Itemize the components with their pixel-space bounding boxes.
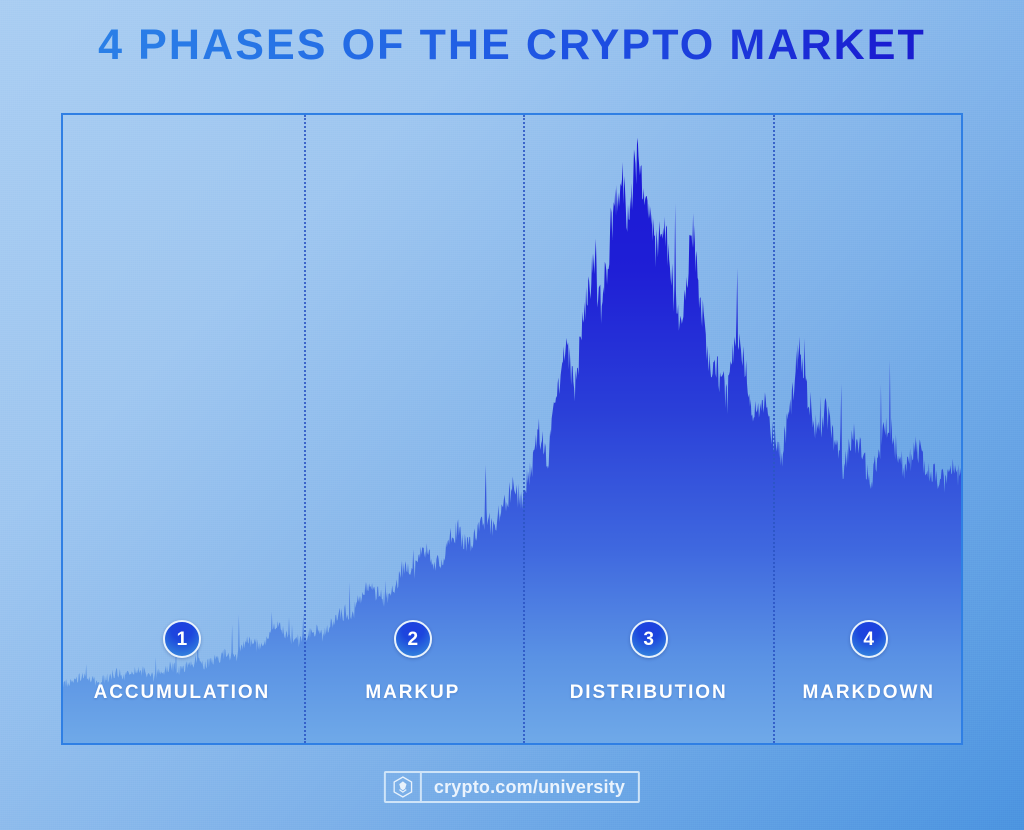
phase-label-accumulation: ACCUMULATION <box>94 682 271 704</box>
phase-distribution: 3 DISTRIBUTION <box>523 620 775 740</box>
phase-number-badge-4: 4 <box>850 620 888 658</box>
phase-label-distribution: DISTRIBUTION <box>570 682 728 704</box>
phase-markup: 2 MARKUP <box>303 620 523 740</box>
crypto-com-logo-icon <box>386 773 422 801</box>
phase-accumulation: 1 ACCUMULATION <box>61 620 303 740</box>
phase-label-markdown: MARKDOWN <box>803 682 935 704</box>
phase-label-markup: MARKUP <box>365 682 460 704</box>
phase-number-badge-2: 2 <box>394 620 432 658</box>
phase-number-badge-3: 3 <box>630 620 668 658</box>
page-title: 4 PHASES OF THE CRYPTO MARKET <box>0 24 1024 67</box>
phase-number-badge-1: 1 <box>163 620 201 658</box>
footer-badge[interactable]: crypto.com/university <box>384 771 640 803</box>
phase-markdown: 4 MARKDOWN <box>774 620 963 740</box>
footer-url[interactable]: crypto.com/university <box>422 773 638 801</box>
phase-legend: 1 ACCUMULATION 2 MARKUP 3 DISTRIBUTION 4… <box>61 620 963 740</box>
infographic-poster: 4 PHASES OF THE CRYPTO MARKET <box>0 0 1024 830</box>
